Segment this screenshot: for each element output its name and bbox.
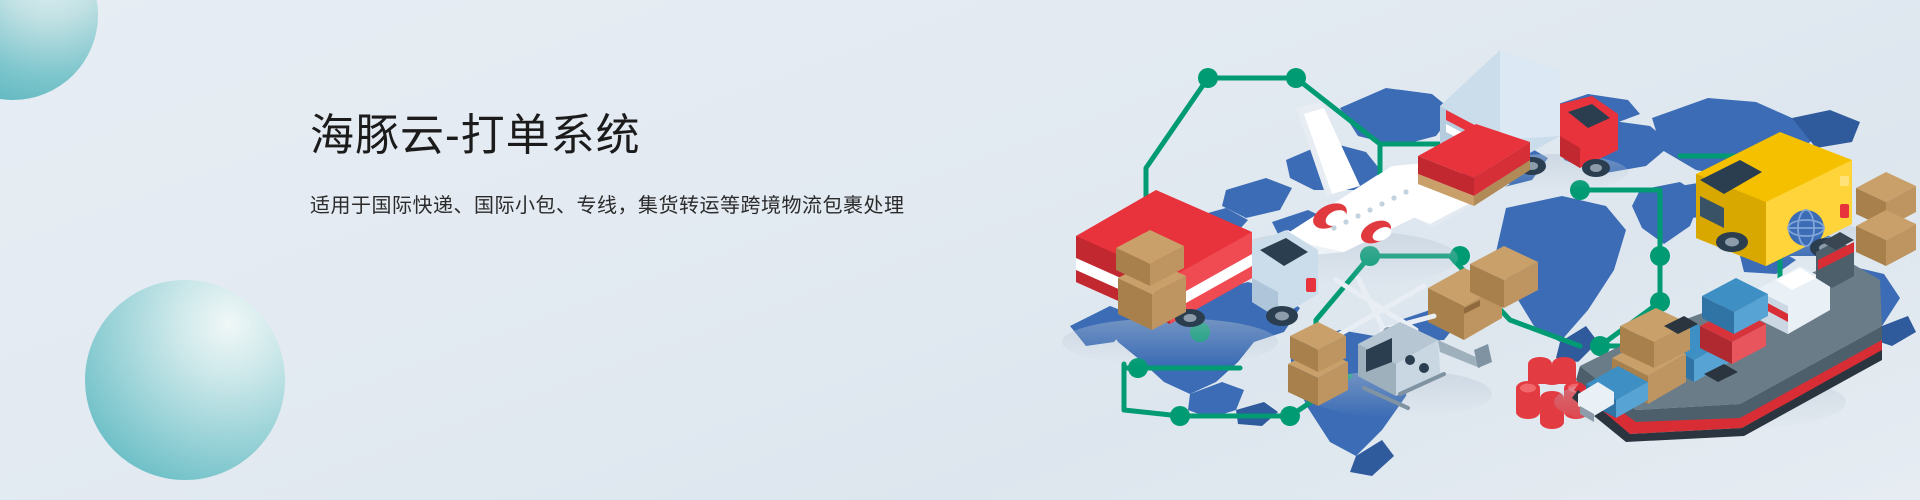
hero-banner: 海豚云-打单系统 适用于国际快递、国际小包、专线，集货转运等跨境物流包裹处理 [0,0,1920,500]
page-title: 海豚云-打单系统 [310,108,905,163]
teal-gradient-circle-bottom-left [85,280,285,480]
semi-truck [1062,190,1318,366]
page-subtitle: 适用于国际快递、国际小包、专线，集货转运等跨境物流包裹处理 [310,191,905,221]
banner-text-block: 海豚云-打单系统 适用于国际快递、国际小包、专线，集货转运等跨境物流包裹处理 [310,108,905,221]
teal-gradient-circle-top-left [0,0,98,100]
isometric-global-logistics-illustration [1040,0,1920,500]
